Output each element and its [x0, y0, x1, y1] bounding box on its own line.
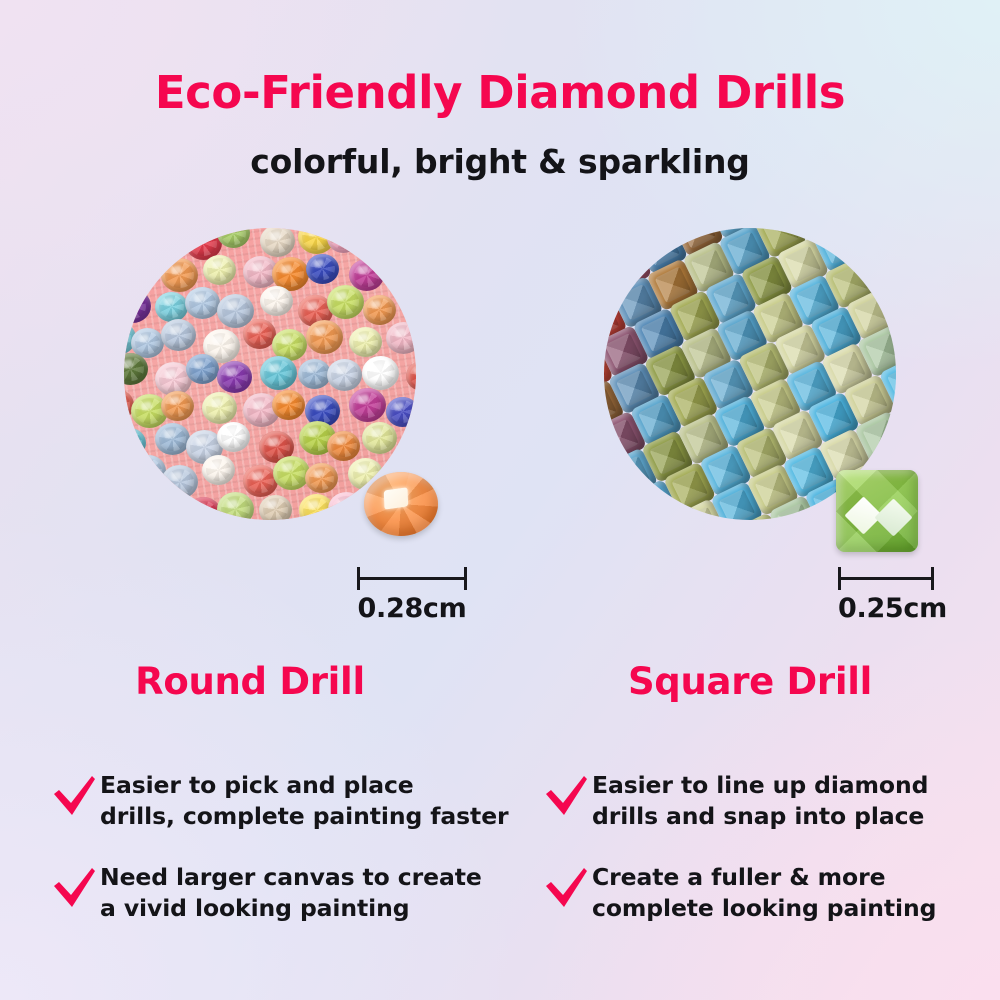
gem-highlight [384, 487, 408, 510]
check-icon [48, 862, 100, 914]
check-icon [48, 770, 100, 822]
drill-bead [243, 319, 276, 349]
drill-bead [155, 423, 190, 455]
round-drill-feature-list: Easier to pick and place drills, complet… [48, 768, 518, 952]
list-item: Create a fuller & more complete looking … [540, 860, 1000, 924]
drill-bead [217, 422, 250, 452]
round-drill-sample-gem [364, 472, 438, 536]
square-drill-sample-gem [836, 470, 918, 552]
drill-bead [349, 388, 386, 422]
list-item-text: Easier to line up diamond drills and sna… [592, 768, 928, 832]
round-drill-heading: Round Drill [0, 660, 500, 703]
square-drill-heading: Square Drill [500, 660, 1000, 703]
ruler-cap-right [464, 567, 467, 590]
drill-bead [161, 465, 198, 499]
list-item: Easier to pick and place drills, complet… [48, 768, 518, 832]
square-drill-feature-list: Easier to line up diamond drills and sna… [540, 768, 1000, 952]
ruler-bar [838, 577, 934, 580]
drill-bead [363, 295, 396, 325]
drill-bead [328, 492, 365, 520]
drill-bead [260, 356, 297, 390]
round-drill-size-label: 0.28cm [357, 593, 467, 624]
drill-bead [260, 286, 293, 316]
list-item-text: Need larger canvas to create a vivid loo… [100, 860, 482, 924]
list-item: Easier to line up diamond drills and sna… [540, 768, 1000, 832]
drill-bead [306, 254, 339, 284]
drill-bead [155, 292, 188, 322]
square-drill-size-ruler: 0.25cm [838, 567, 934, 589]
drill-bead [217, 361, 252, 393]
drill-bead [272, 390, 305, 420]
drill-bead [306, 320, 343, 354]
page-title: Eco-Friendly Diamond Drills [0, 66, 1000, 119]
check-icon [540, 862, 592, 914]
drill-bead [203, 255, 236, 285]
drill-bead [259, 495, 292, 520]
list-item-text: Create a fuller & more complete looking … [592, 860, 936, 924]
drill-bead [217, 492, 254, 520]
drill-bead [327, 228, 360, 253]
drill-bead [362, 422, 397, 454]
list-item-text: Easier to pick and place drills, complet… [100, 768, 509, 832]
drill-bead [386, 322, 416, 354]
check-icon [540, 770, 592, 822]
square-drill-size-label: 0.25cm [838, 593, 934, 624]
ruler-bar [357, 577, 467, 580]
drill-bead [327, 359, 362, 391]
list-item: Need larger canvas to create a vivid loo… [48, 860, 518, 924]
drill-bead [202, 455, 235, 485]
drill-bead [161, 391, 194, 421]
ruler-cap-right [931, 567, 934, 590]
page-subtitle: colorful, bright & sparkling [0, 142, 1000, 181]
drill-bead [273, 456, 310, 490]
round-drill-size-ruler: 0.28cm [357, 567, 467, 589]
drill-bead [186, 354, 219, 384]
drill-bead [327, 285, 364, 319]
drill-bead [386, 397, 416, 427]
